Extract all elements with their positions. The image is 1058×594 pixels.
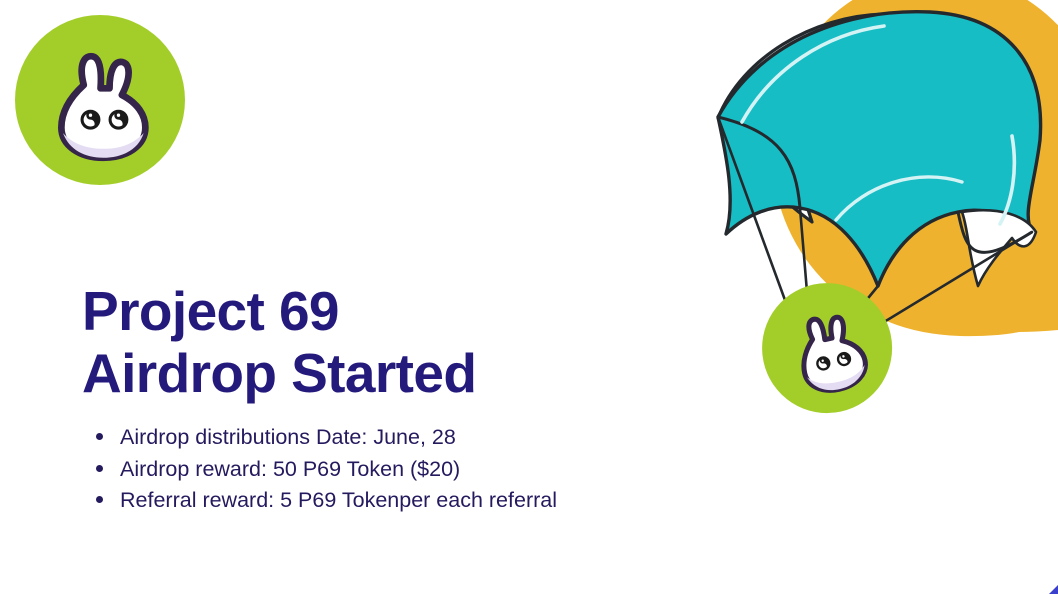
bullet-dot-icon — [96, 465, 103, 472]
page-title: Project 69 Airdrop Started — [82, 281, 702, 404]
list-item: Airdrop distributions Date: June, 28 — [96, 422, 702, 453]
bullet-dot-icon — [96, 433, 103, 440]
parachute-cords — [718, 117, 1032, 352]
bunny-eyes — [816, 352, 851, 371]
list-item: Airdrop reward: 50 P69 Token ($20) — [96, 454, 702, 485]
list-item-label: Airdrop reward: 50 P69 Token ($20) — [120, 457, 460, 481]
payload-bunny-logo — [750, 271, 904, 425]
slide-canvas: Project 69 Airdrop Started Airdrop distr… — [0, 0, 1058, 594]
pancakeswap-bunny-logo — [8, 8, 192, 192]
list-item-label: Referral reward: 5 P69 Tokenper each ref… — [120, 488, 557, 512]
list-item-label: Airdrop distributions Date: June, 28 — [120, 425, 456, 449]
parachute-canopy — [718, 12, 1041, 286]
bullet-dot-icon — [96, 496, 103, 503]
text-block: Project 69 Airdrop Started Airdrop distr… — [82, 281, 702, 516]
list-item: Referral reward: 5 P69 Tokenper each ref… — [96, 485, 702, 516]
bullet-list: Airdrop distributions Date: June, 28 Air… — [82, 422, 702, 516]
corner-artifact — [1046, 582, 1058, 594]
orange-blob — [772, 0, 1058, 336]
